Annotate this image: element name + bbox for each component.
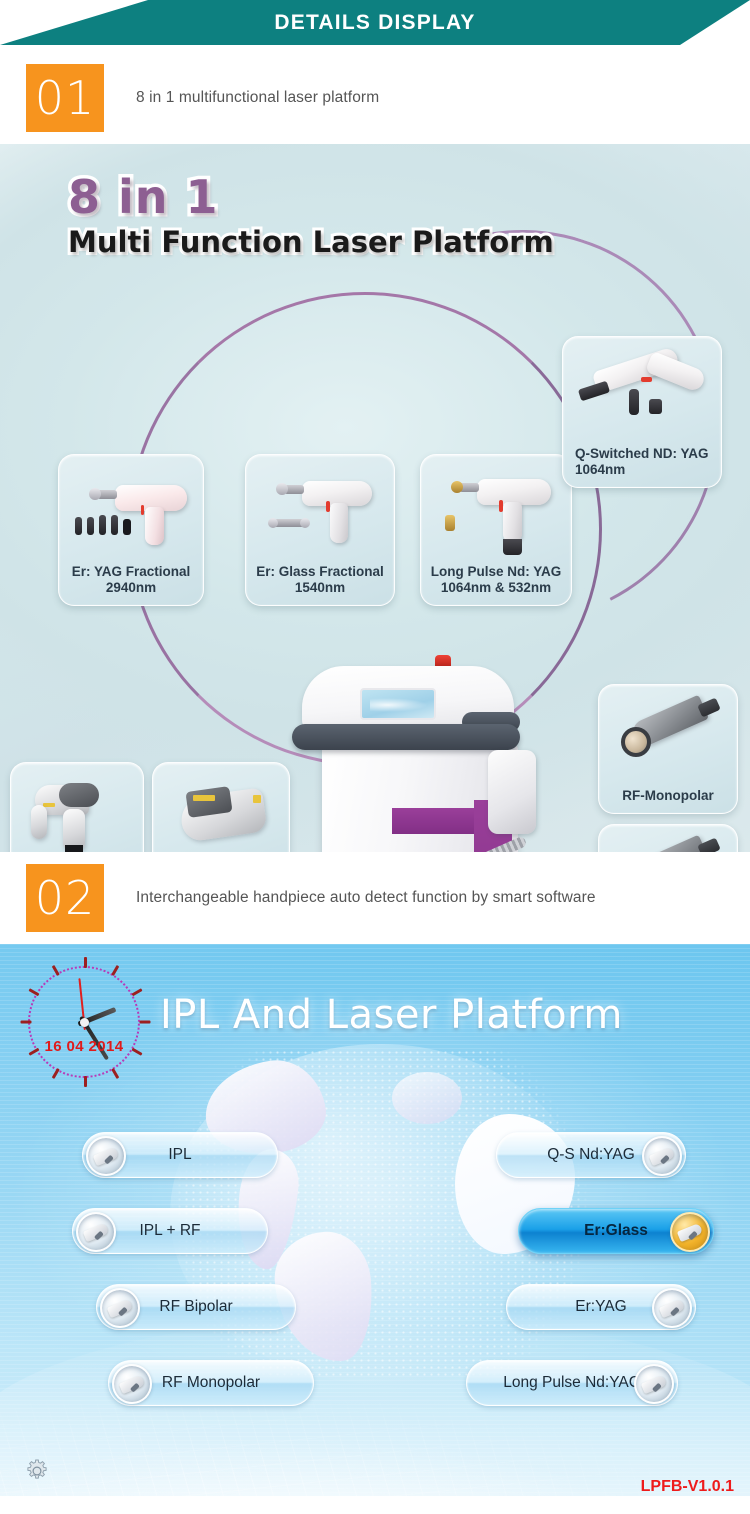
function-button-ipl-rf[interactable]: IPL + RF: [72, 1208, 268, 1254]
handpiece-knob-icon: [76, 1212, 116, 1252]
background-wave: [0, 1316, 750, 1496]
software-version-label: LPFB-V1.0.1: [641, 1478, 734, 1496]
continent-shape-greenland: [392, 1072, 462, 1124]
handpiece-knob-icon: [100, 1288, 140, 1328]
function-button-rf-monopolar[interactable]: RF Monopolar: [108, 1360, 314, 1406]
console-front-handle: [292, 724, 520, 750]
handpiece-label: Q-Switched ND: YAG 1064nm: [563, 446, 721, 478]
function-button-q-s-nd-yag[interactable]: Q-S Nd:YAG: [496, 1132, 686, 1178]
function-button-ipl[interactable]: IPL: [82, 1132, 278, 1178]
function-button-er-glass[interactable]: Er:Glass: [518, 1208, 714, 1254]
handpiece-knob-icon: [652, 1288, 692, 1328]
software-title: IPL And Laser Platform: [160, 992, 623, 1038]
details-display-page: DETAILS DISPLAY 01 8 in 1 multifunctiona…: [0, 0, 750, 1514]
handpiece-card-rf-monopolar[interactable]: RF-Monopolar: [598, 684, 738, 814]
ipl-handpiece-image: [11, 763, 143, 852]
handpiece-card-q-switched-nd-yag[interactable]: Q-Switched ND: YAG 1064nm: [562, 336, 722, 488]
laser-machine-console: [292, 652, 544, 852]
handpiece-card-er-glass-fractional[interactable]: Er: Glass Fractional 1540nm: [245, 454, 395, 606]
gear-icon[interactable]: [24, 1458, 50, 1484]
handpiece-card-rf-bipolar[interactable]: RF-bipolar: [598, 824, 738, 852]
panel-headline: 8 in 1 Multi Function Laser Platform: [68, 174, 554, 257]
clock-tick: [84, 1076, 87, 1087]
ipl-rf-handpiece-image: [153, 763, 289, 852]
clock-tick: [84, 957, 87, 968]
clock-tick: [132, 988, 143, 996]
handpiece-label: Er: Glass Fractional 1540nm: [246, 564, 394, 596]
function-button-long-pulse-nd-yag[interactable]: Long Pulse Nd:YAG: [466, 1360, 678, 1406]
handpiece-card-ipl-with-rf[interactable]: IPL with RF: [152, 762, 290, 852]
function-button-er-yag[interactable]: Er:YAG: [506, 1284, 696, 1330]
handpiece-holster: [488, 750, 536, 834]
clock-widget: 16 04 2014: [18, 956, 150, 1088]
rf-bipolar-image: [599, 825, 737, 852]
section-02-number: 02: [26, 864, 104, 932]
handpiece-knob-icon: [670, 1212, 710, 1252]
clock-center-pin: [80, 1018, 89, 1027]
clock-tick: [140, 1021, 151, 1024]
handpiece-knob-icon: [642, 1136, 682, 1176]
handpiece-card-er-yag-fractional[interactable]: Er: YAG Fractional 2940nm: [58, 454, 204, 606]
handpiece-knob-icon: [86, 1136, 126, 1176]
handpiece-label: RF-Monopolar: [599, 788, 737, 804]
headline-8-in-1: 8 in 1: [68, 174, 554, 220]
handpiece-label: Er: YAG Fractional 2940nm: [59, 564, 203, 596]
section-01-heading: 01 8 in 1 multifunctional laser platform: [0, 52, 750, 144]
clock-tick: [52, 1068, 60, 1079]
touchscreen-display[interactable]: [360, 688, 436, 720]
headline-subtitle: Multi Function Laser Platform: [68, 228, 554, 257]
section-01-number: 01: [26, 64, 104, 132]
handpiece-knob-icon: [112, 1364, 152, 1404]
details-display-banner: DETAILS DISPLAY: [0, 0, 750, 52]
banner-title: DETAILS DISPLAY: [0, 0, 750, 45]
section-02-heading: 02 Interchangeable handpiece auto detect…: [0, 852, 750, 944]
handpiece-label: Long Pulse Nd: YAG 1064nm & 532nm: [421, 564, 571, 596]
clock-tick: [21, 1021, 32, 1024]
handpiece-card-ipl[interactable]: IPL: [10, 762, 144, 852]
handpiece-knob-icon: [634, 1364, 674, 1404]
clock-date-label: 16 04 2014: [18, 1038, 150, 1055]
clock-tick: [111, 1068, 119, 1079]
clock-tick: [111, 965, 119, 976]
handpiece-card-long-pulse-nd-yag[interactable]: Long Pulse Nd: YAG 1064nm & 532nm: [420, 454, 572, 606]
product-overview-panel: 8 in 1 Multi Function Laser Platform: [0, 144, 750, 852]
section-02-text: Interchangeable handpiece auto detect fu…: [136, 889, 596, 907]
function-button-rf-bipolar[interactable]: RF Bipolar: [96, 1284, 296, 1330]
section-01-text: 8 in 1 multifunctional laser platform: [136, 89, 379, 107]
